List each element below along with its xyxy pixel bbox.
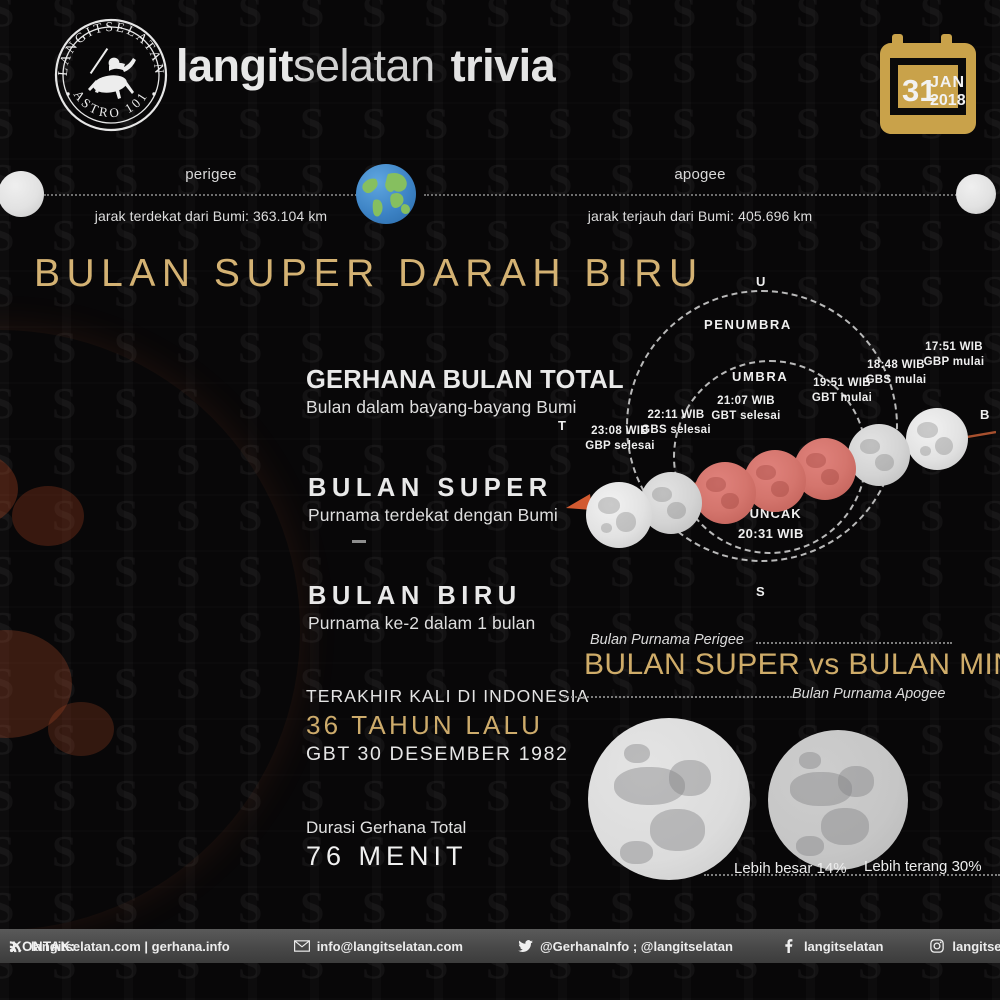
contact-facebook[interactable]: langitselatan <box>781 939 883 954</box>
umbra-label: UMBRA <box>732 369 788 384</box>
apogee-label: apogee <box>620 166 780 183</box>
wordmark-trivia: trivia <box>451 40 556 91</box>
wordmark-langit: langit <box>176 40 293 91</box>
calendar-icon: 31 JAN 2018 <box>878 32 978 136</box>
fact-title: BULAN SUPER <box>308 474 558 503</box>
twitter-icon <box>517 939 533 953</box>
brand-wordmark: langitselatantrivia <box>176 40 555 92</box>
supermoon-disc <box>588 718 750 880</box>
eclipse-moon-phase-5 <box>848 424 910 486</box>
last-occurrence-value: 36 TAHUN LALU <box>306 710 589 741</box>
apogee-dotted-line <box>424 194 960 196</box>
super-vs-mini-section: Bulan Purnama Perigee BULAN SUPER vs BUL… <box>556 630 1000 900</box>
compare-title: BULAN SUPER vs BULAN MINI <box>584 648 1000 682</box>
divider-dash <box>352 540 366 543</box>
facebook-icon <box>781 939 797 953</box>
eclipse-diagram: U S T B PENUMBRA UMBRA PUNCAK 20:31 WIB <box>548 272 1000 612</box>
distance-band: perigee jarak terdekat dari Bumi: 363.10… <box>0 150 1000 242</box>
apogee-caption: Bulan Purnama Apogee <box>792 686 945 702</box>
last-occurrence-block: TERAKHIR KALI DI INDONESIA 36 TAHUN LALU… <box>306 686 589 766</box>
peak-time: 20:31 WIB <box>738 526 804 541</box>
phase-event: GBT selesai <box>698 409 794 424</box>
phase-event: GBT mulai <box>794 391 890 406</box>
contact-instagram[interactable]: langitselatanmedia <box>929 939 1000 954</box>
mail-icon <box>294 939 310 953</box>
kontak-label: KONTAK: <box>12 939 75 954</box>
minimoon-disc <box>768 730 908 870</box>
contact-instagram-text: langitselatanmedia <box>952 939 1000 954</box>
phase-event: GBP selesai <box>570 439 670 454</box>
fact-title: BULAN BIRU <box>308 582 535 611</box>
calendar-year: 2018 <box>930 92 966 109</box>
phase-event: GBP mulai <box>906 355 1000 370</box>
fact-block-2: BULAN SUPER Purnama terdekat dengan Bumi <box>308 474 558 526</box>
contact-twitter-text: @GerhanaInfo ; @langitselatan <box>540 939 733 954</box>
contact-email-text: info@langitselatan.com <box>317 939 463 954</box>
compass-south-label: S <box>756 584 766 599</box>
calendar-month: JAN <box>930 74 965 91</box>
langitselatan-logo: LANGITSELATAN ASTRO 101 <box>52 16 170 134</box>
wordmark-selatan: selatan <box>293 40 435 91</box>
contact-email[interactable]: info@langitselatan.com <box>294 939 463 954</box>
compass-east-label: B <box>980 407 991 422</box>
phase-event: GBS selesai <box>628 423 724 438</box>
instagram-icon <box>929 939 945 953</box>
contact-facebook-text: langitselatan <box>804 939 883 954</box>
apogee-sublabel: jarak terjauh dari Bumi: 405.696 km <box>540 208 860 224</box>
contact-twitter[interactable]: @GerhanaInfo ; @langitselatan <box>517 939 733 954</box>
penumbra-label: PENUMBRA <box>704 317 792 332</box>
kontak-label-wrap: KONTAK: <box>12 929 75 963</box>
eclipse-moon-phase-1 <box>586 482 652 548</box>
phase-label-6: 17:51 WIB GBP mulai <box>906 340 1000 369</box>
last-occurrence-label: TERAKHIR KALI DI INDONESIA <box>306 686 589 707</box>
compass-north-label: U <box>756 274 767 289</box>
compare-caption-right: Lebih terang 30% <box>864 858 982 875</box>
phase-time: 21:07 WIB <box>698 394 794 409</box>
infographic-canvas: SSSSSSSSSSSSSSSSSSSSSSSSSSSSSSSSSSSSSSSS… <box>0 0 1000 1000</box>
fact-subtitle: Purnama ke-2 dalam 1 bulan <box>308 613 535 634</box>
fact-subtitle: Purnama terdekat dengan Bumi <box>308 505 558 526</box>
last-occurrence-detail: GBT 30 DESEMBER 1982 <box>306 743 589 766</box>
apogee-caption-rule <box>564 696 792 698</box>
phase-event: GBS mulai <box>848 373 944 388</box>
duration-value: 76 MENIT <box>306 841 468 872</box>
compare-caption-left: Lebih besar 14% <box>734 860 847 877</box>
perigee-caption: Bulan Purnama Perigee <box>590 632 744 648</box>
perigee-dotted-line <box>44 194 360 196</box>
duration-label: Durasi Gerhana Total <box>306 818 468 838</box>
perigee-label: perigee <box>96 166 326 183</box>
perigee-sublabel: jarak terdekat dari Bumi: 363.104 km <box>36 208 386 224</box>
eclipse-moon-phase-3 <box>694 462 756 524</box>
apogee-moon-icon <box>956 174 996 214</box>
phase-label-3: 21:07 WIB GBT selesai <box>698 394 794 423</box>
duration-block: Durasi Gerhana Total 76 MENIT <box>306 818 468 872</box>
fact-block-3: BULAN BIRU Purnama ke-2 dalam 1 bulan <box>308 582 535 634</box>
contact-bar: langitselatan.com | gerhana.info info@la… <box>0 929 1000 963</box>
eclipse-moon-phase-6 <box>906 408 968 470</box>
perigee-caption-rule <box>756 642 952 644</box>
compass-west-label: T <box>558 418 567 433</box>
phase-time: 17:51 WIB <box>906 340 1000 355</box>
